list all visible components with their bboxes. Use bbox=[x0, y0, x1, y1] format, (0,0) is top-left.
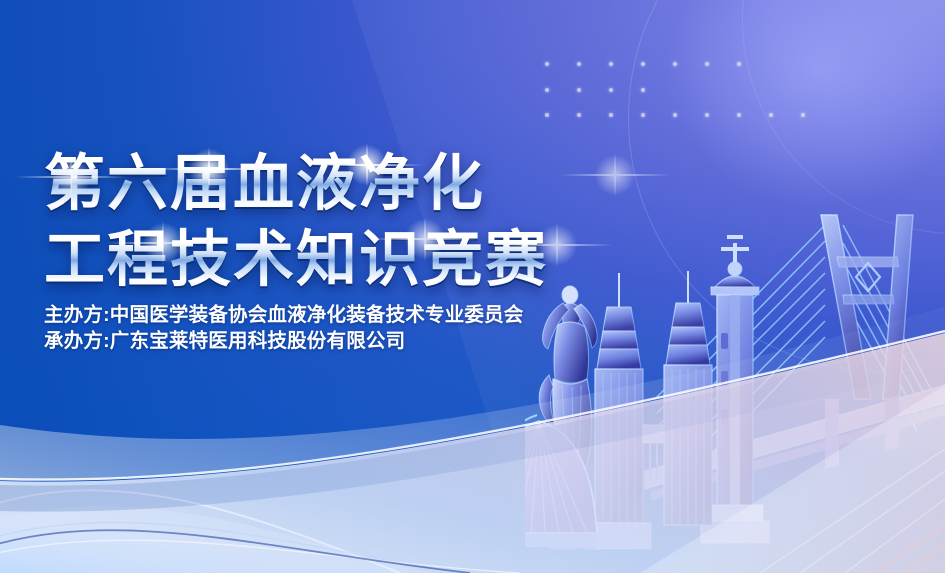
decor-dot bbox=[545, 88, 549, 92]
decor-dot bbox=[577, 62, 581, 66]
decor-dot bbox=[705, 62, 709, 66]
title-line-1: 第六届血液净化 bbox=[44, 148, 684, 218]
decor-dot bbox=[577, 113, 581, 117]
decor-dot bbox=[577, 88, 581, 92]
decor-dot bbox=[673, 62, 677, 66]
title-block: 第六届血液净化 工程技术知识竞赛 bbox=[44, 148, 684, 294]
decor-dot bbox=[769, 113, 773, 117]
decor-dot bbox=[801, 113, 805, 117]
decor-dot bbox=[737, 62, 741, 66]
decor-dot bbox=[641, 113, 645, 117]
organizer-line: 主办方:中国医学装备协会血液净化装备技术专业委员会 bbox=[44, 302, 524, 328]
decor-ring-inner bbox=[742, 0, 945, 234]
decor-dot bbox=[705, 113, 709, 117]
decor-dot bbox=[545, 62, 549, 66]
host-line: 承办方:广东宝莱特医用科技股份有限公司 bbox=[44, 328, 524, 354]
decor-dot bbox=[737, 113, 741, 117]
decor-dot bbox=[545, 113, 549, 117]
decor-dot bbox=[673, 113, 677, 117]
title-line-2: 工程技术知识竞赛 bbox=[44, 224, 684, 294]
decor-dot bbox=[609, 88, 613, 92]
decor-dot bbox=[609, 62, 613, 66]
event-banner: 第六届血液净化 工程技术知识竞赛 主办方:中国医学装备协会血液净化装备技术专业委… bbox=[0, 0, 945, 573]
subtitle-block: 主办方:中国医学装备协会血液净化装备技术专业委员会 承办方:广东宝莱特医用科技股… bbox=[44, 302, 524, 354]
decor-dot bbox=[641, 62, 645, 66]
decor-dot bbox=[641, 88, 645, 92]
decor-dot bbox=[609, 113, 613, 117]
